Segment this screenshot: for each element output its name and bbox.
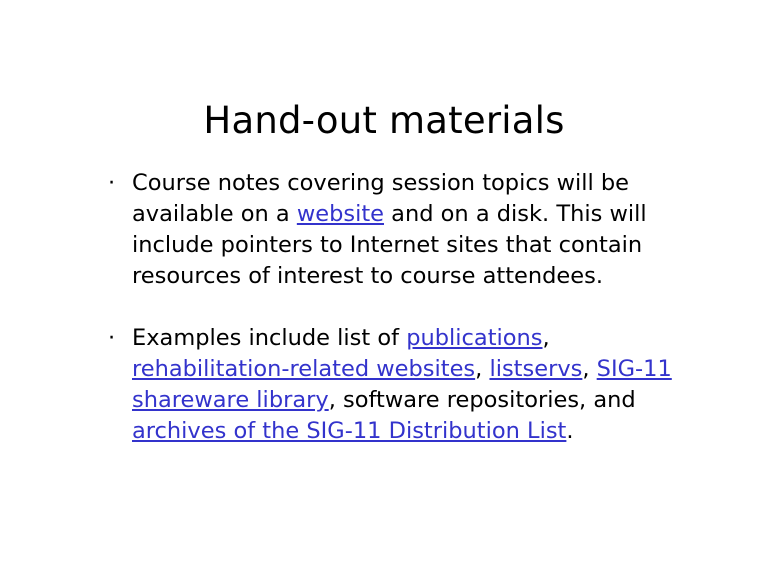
text-run: ,	[543, 325, 550, 351]
link-website[interactable]: website	[297, 201, 384, 227]
text-run: ,	[582, 356, 596, 382]
slide-body: · Course notes covering session topics w…	[106, 168, 706, 447]
text-run: , software repositories, and	[329, 387, 636, 413]
list-item: · Course notes covering session topics w…	[106, 168, 706, 292]
link-rehabilitation-related-websites[interactable]: rehabilitation-related websites	[132, 356, 475, 382]
link-archives-sig-11-distribution-list[interactable]: archives of the SIG-11 Distribution List	[132, 418, 566, 444]
bullet-text-examples: Examples include list of publications, r…	[132, 323, 706, 447]
text-run: .	[566, 418, 573, 444]
slide-canvas: Hand-out materials · Course notes coveri…	[0, 0, 768, 576]
bullet-dot-icon: ·	[108, 168, 115, 199]
link-listservs[interactable]: listservs	[489, 356, 582, 382]
list-item: · Examples include list of publications,…	[106, 323, 706, 447]
bullet-text-course-notes: Course notes covering session topics wil…	[132, 168, 706, 292]
bullet-dot-icon: ·	[108, 323, 115, 354]
page-title: Hand-out materials	[0, 99, 768, 143]
text-run: Examples include list of	[132, 325, 406, 351]
link-publications[interactable]: publications	[406, 325, 542, 351]
text-run: ,	[475, 356, 489, 382]
